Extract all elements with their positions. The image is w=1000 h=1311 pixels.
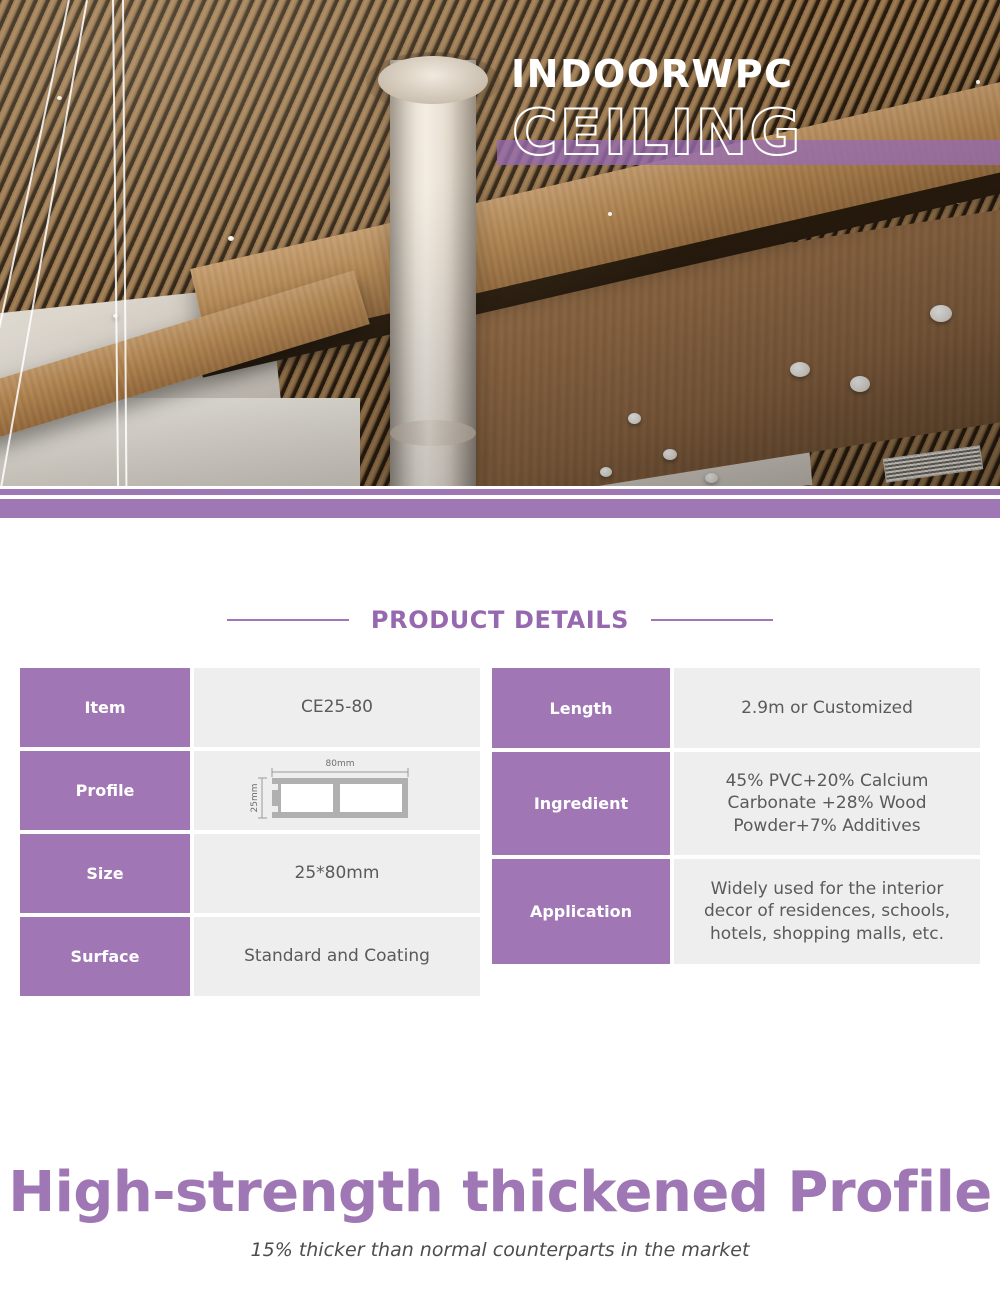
decor-dot <box>976 80 980 84</box>
profile-height-label: 25mm <box>250 783 260 812</box>
hero-photo <box>0 0 1000 486</box>
spec-label-surface: Surface <box>20 917 190 996</box>
table-row: Surface Standard and Coating <box>20 917 480 996</box>
divider-bar-thin <box>0 489 1000 495</box>
spec-column-right: Length 2.9m or Customized Ingredient 45%… <box>492 668 980 996</box>
spec-value-item: CE25-80 <box>194 668 480 747</box>
table-row: Size 25*80mm <box>20 834 480 913</box>
spec-label-length: Length <box>492 668 670 748</box>
table-row: Item CE25-80 <box>20 668 480 747</box>
spec-label-item: Item <box>20 668 190 747</box>
decor-dot <box>608 212 612 216</box>
hero-title: INDOORWPC <box>511 52 794 96</box>
bottom-headline: High-strength thickened Profile <box>0 1160 1000 1225</box>
section-heading-label: PRODUCT DETAILS <box>371 606 629 634</box>
bottom-subheadline: 15% thicker than normal counterparts in … <box>0 1239 1000 1261</box>
spec-value-surface: Standard and Coating <box>194 917 480 996</box>
profile-svg: 80mm 25mm <box>250 756 425 826</box>
product-spec-table: Item CE25-80 Profile 80mm <box>20 668 980 996</box>
spec-value-profile: 80mm 25mm <box>194 751 480 830</box>
spec-value-application: Widely used for the interior decor of re… <box>674 859 980 964</box>
profile-width-label: 80mm <box>325 759 354 769</box>
hero-outline-title: CEILING <box>512 96 802 169</box>
spec-value-ingredient: 45% PVC+20% Calcium Carbonate +28% Wood … <box>674 752 980 855</box>
bottom-callout: High-strength thickened Profile 15% thic… <box>0 1160 1000 1261</box>
decor-dot <box>770 68 774 72</box>
spec-label-ingredient: Ingredient <box>492 752 670 855</box>
section-heading: PRODUCT DETAILS <box>0 606 1000 634</box>
table-row: Profile 80mm 25mm <box>20 751 480 830</box>
spec-column-left: Item CE25-80 Profile 80mm <box>20 668 480 996</box>
table-row: Ingredient 45% PVC+20% Calcium Carbonate… <box>492 752 980 855</box>
spec-label-profile: Profile <box>20 751 190 830</box>
spec-value-size: 25*80mm <box>194 834 480 913</box>
spec-label-application: Application <box>492 859 670 964</box>
hero-vignette <box>0 0 1000 486</box>
heading-rule-left <box>227 619 349 621</box>
spec-label-size: Size <box>20 834 190 913</box>
spec-value-length: 2.9m or Customized <box>674 668 980 748</box>
profile-cross-section-diagram: 80mm 25mm <box>250 756 425 826</box>
divider-bar-thick <box>0 499 1000 518</box>
table-row: Length 2.9m or Customized <box>492 668 980 748</box>
heading-rule-right <box>651 619 773 621</box>
hero-banner: INDOORWPC CEILING <box>0 0 1000 486</box>
table-row: Application Widely used for the interior… <box>492 859 980 964</box>
